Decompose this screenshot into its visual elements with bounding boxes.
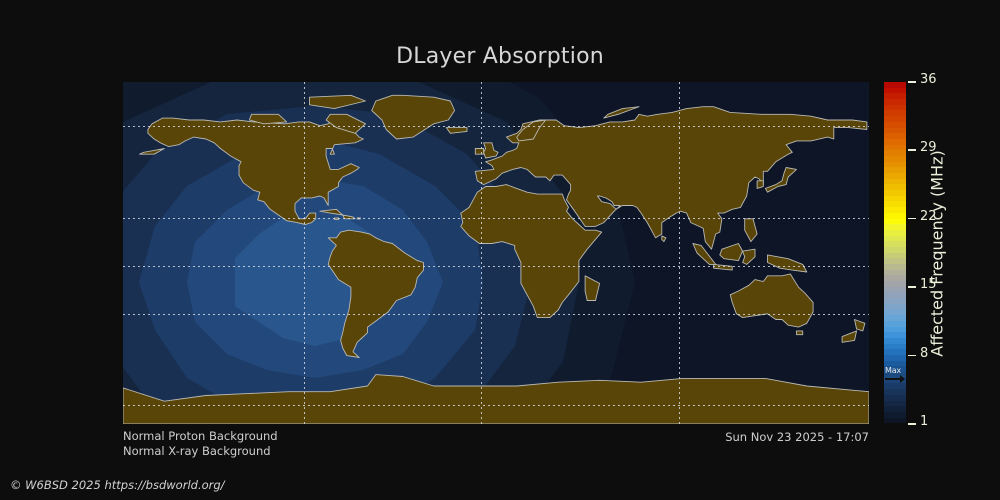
colorbar-band <box>884 418 906 424</box>
tick-dash <box>908 81 916 83</box>
tick-dash <box>908 286 916 288</box>
map-canvas <box>123 82 869 424</box>
tick-dash <box>908 149 916 151</box>
status-block: Normal Proton Background Normal X-ray Ba… <box>123 429 278 459</box>
timestamp: Sun Nov 23 2025 - 17:07 <box>725 430 869 444</box>
landmass-tasmania <box>797 331 803 335</box>
tick-dash <box>908 423 916 425</box>
colorbar[interactable]: 3629221581 Max <box>884 82 906 424</box>
world-map[interactable] <box>123 82 869 424</box>
max-arrow-head <box>900 375 905 383</box>
proton-status: Normal Proton Background <box>123 429 278 444</box>
page-title: DLayer Absorption <box>0 44 1000 69</box>
colorbar-max-marker: Max <box>884 368 906 390</box>
xray-status: Normal X-ray Background <box>123 444 278 459</box>
colorbar-title-text: Affected Frequency (MHz) <box>928 150 947 356</box>
landmass-jamaica <box>334 218 338 219</box>
landmass-puerto-rico <box>357 218 360 219</box>
dlayer-absorption-page: DLayer Absorption 3629221581 Max Affecte… <box>0 0 1000 500</box>
tick-dash <box>908 355 916 357</box>
max-label: Max <box>885 367 901 375</box>
footer-credit: © W6BSD 2025 https://bsdworld.org/ <box>10 478 225 492</box>
colorbar-title: Affected Frequency (MHz) <box>924 82 950 424</box>
tick-dash <box>908 218 916 220</box>
landmass-ireland <box>475 149 483 155</box>
